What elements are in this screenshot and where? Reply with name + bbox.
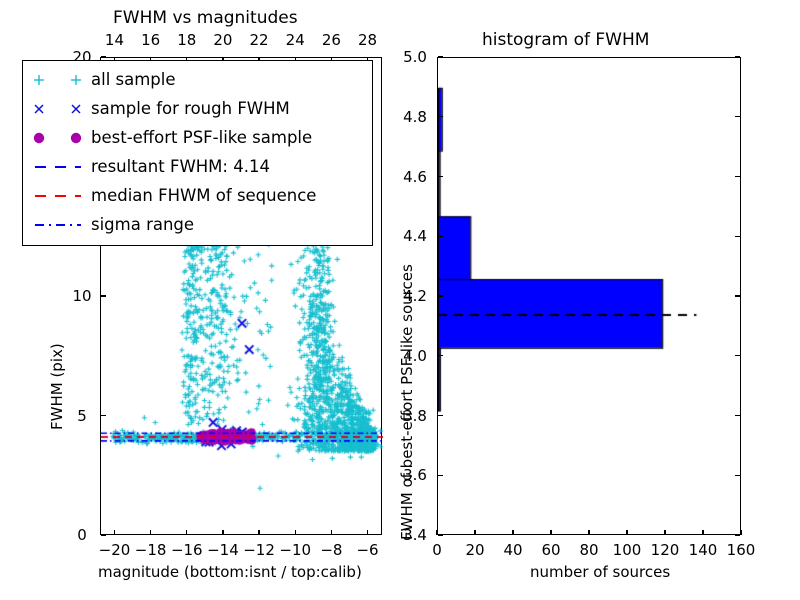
histogram-plot-canvas xyxy=(438,58,742,536)
left-xtick-label-top: 28 xyxy=(358,31,377,49)
left-xtick-mark xyxy=(367,530,368,535)
right-xtick-mark xyxy=(474,530,475,535)
right-ytick-mark xyxy=(438,56,443,57)
legend-item-label: sigma range xyxy=(91,215,194,234)
legend-item: sample for rough FWHM xyxy=(23,94,372,123)
right-ytick-mark-right xyxy=(735,236,740,237)
left-xtick-mark xyxy=(186,530,187,535)
right-xtick-mark xyxy=(664,530,665,535)
right-panel-title: histogram of FWHM xyxy=(482,30,649,50)
right-ytick-mark xyxy=(438,534,443,535)
left-xtick-label-top: 14 xyxy=(105,31,124,49)
right-xtick-label: 0 xyxy=(432,541,442,559)
right-ytick-label: 4.8 xyxy=(403,108,427,126)
legend-dashed-line xyxy=(29,185,91,207)
right-xtick-mark xyxy=(702,530,703,535)
right-ytick-mark-right xyxy=(735,295,740,296)
legend-cross-marker xyxy=(29,98,91,120)
right-xtick-mark xyxy=(588,530,589,535)
right-ytick-label: 4.2 xyxy=(403,287,427,305)
left-xtick-mark xyxy=(295,530,296,535)
right-ytick-label: 3.4 xyxy=(403,526,427,544)
legend-item-label: sample for rough FWHM xyxy=(91,99,290,118)
left-ytick-mark xyxy=(101,534,106,535)
right-xtick-label: 140 xyxy=(689,541,718,559)
left-xtick-mark xyxy=(114,530,115,535)
left-ytick-label: 0 xyxy=(77,526,87,544)
right-xtick-label: 120 xyxy=(651,541,680,559)
right-ytick-mark-right xyxy=(735,176,740,177)
left-xtick-label-top: 22 xyxy=(250,31,269,49)
left-yaxis-label: FWHM (pix) xyxy=(48,343,66,430)
left-xtick-label-top: 20 xyxy=(213,31,232,49)
right-xaxis-label: number of sources xyxy=(530,563,670,581)
left-xtick-label: −6 xyxy=(356,541,378,559)
left-panel-title: FWHM vs magnitudes xyxy=(113,8,298,28)
left-ytick-mark xyxy=(101,415,106,416)
right-ytick-mark xyxy=(438,475,443,476)
right-ytick-mark xyxy=(438,236,443,237)
legend-item: all sample xyxy=(23,65,372,94)
histogram-plot-frame xyxy=(437,57,741,535)
left-xtick-mark xyxy=(222,530,223,535)
left-xtick-mark xyxy=(331,530,332,535)
right-ytick-mark-right xyxy=(735,116,740,117)
left-xtick-label-top: 24 xyxy=(286,31,305,49)
left-xaxis-label: magnitude (bottom:isnt / top:calib) xyxy=(98,563,362,581)
legend-box: all samplesample for rough FWHMbest-effo… xyxy=(22,60,373,246)
right-xtick-label: 40 xyxy=(503,541,522,559)
figure-canvas: FWHM vs magnitudes magnitude (bottom:isn… xyxy=(0,0,800,600)
right-ytick-mark xyxy=(438,116,443,117)
left-xtick-label: −14 xyxy=(207,541,239,559)
right-xtick-mark xyxy=(512,530,513,535)
right-yaxis-label: FWHM of best-effort PSF-like sources xyxy=(398,264,416,540)
right-xtick-label: 60 xyxy=(541,541,560,559)
right-ytick-label: 4.0 xyxy=(403,347,427,365)
right-ytick-label: 5.0 xyxy=(403,48,427,66)
right-ytick-mark-right xyxy=(735,475,740,476)
right-ytick-mark xyxy=(438,355,443,356)
legend-item: best-effort PSF-like sample xyxy=(23,123,372,152)
left-xtick-label: −20 xyxy=(99,541,131,559)
legend-item: sigma range xyxy=(23,210,372,239)
legend-item: median FHWM of sequence xyxy=(23,181,372,210)
left-xtick-label: −12 xyxy=(243,541,275,559)
legend-item: resultant FWHM: 4.14 xyxy=(23,152,372,181)
legend-plus-marker xyxy=(29,69,91,91)
legend-item-label: resultant FWHM: 4.14 xyxy=(91,157,270,176)
left-xtick-label-top: 18 xyxy=(177,31,196,49)
left-xtick-label-top: 16 xyxy=(141,31,160,49)
left-xtick-mark xyxy=(150,530,151,535)
right-ytick-mark-right xyxy=(735,534,740,535)
legend-item-label: best-effort PSF-like sample xyxy=(91,128,312,147)
right-ytick-mark xyxy=(438,415,443,416)
left-ytick-label: 5 xyxy=(77,407,87,425)
left-xtick-label: −10 xyxy=(279,541,311,559)
legend-dashed-line xyxy=(29,156,91,178)
right-xtick-mark xyxy=(626,530,627,535)
left-ytick-mark xyxy=(101,295,106,296)
left-xtick-label: −18 xyxy=(135,541,167,559)
left-xtick-label: −8 xyxy=(320,541,342,559)
right-ytick-mark xyxy=(438,295,443,296)
left-xtick-mark xyxy=(258,530,259,535)
right-ytick-label: 4.6 xyxy=(403,168,427,186)
left-ytick-label: 10 xyxy=(72,287,91,305)
right-ytick-mark xyxy=(438,176,443,177)
right-xtick-label: 80 xyxy=(579,541,598,559)
left-ytick-mark xyxy=(101,56,106,57)
right-ytick-label: 3.8 xyxy=(403,407,427,425)
right-ytick-mark-right xyxy=(735,415,740,416)
right-xtick-label: 160 xyxy=(727,541,756,559)
right-ytick-mark-right xyxy=(735,355,740,356)
right-ytick-mark-right xyxy=(735,56,740,57)
right-xtick-mark xyxy=(740,530,741,535)
legend-circle-marker xyxy=(29,127,91,149)
right-xtick-label: 100 xyxy=(613,541,642,559)
left-xtick-label-top: 26 xyxy=(322,31,341,49)
legend-item-label: all sample xyxy=(91,70,176,89)
right-xtick-label: 20 xyxy=(465,541,484,559)
right-ytick-label: 4.4 xyxy=(403,227,427,245)
legend-dashdot-line xyxy=(29,214,91,236)
right-xtick-mark xyxy=(550,530,551,535)
left-xtick-label: −16 xyxy=(171,541,203,559)
legend-item-label: median FHWM of sequence xyxy=(91,186,316,205)
right-ytick-label: 3.6 xyxy=(403,466,427,484)
